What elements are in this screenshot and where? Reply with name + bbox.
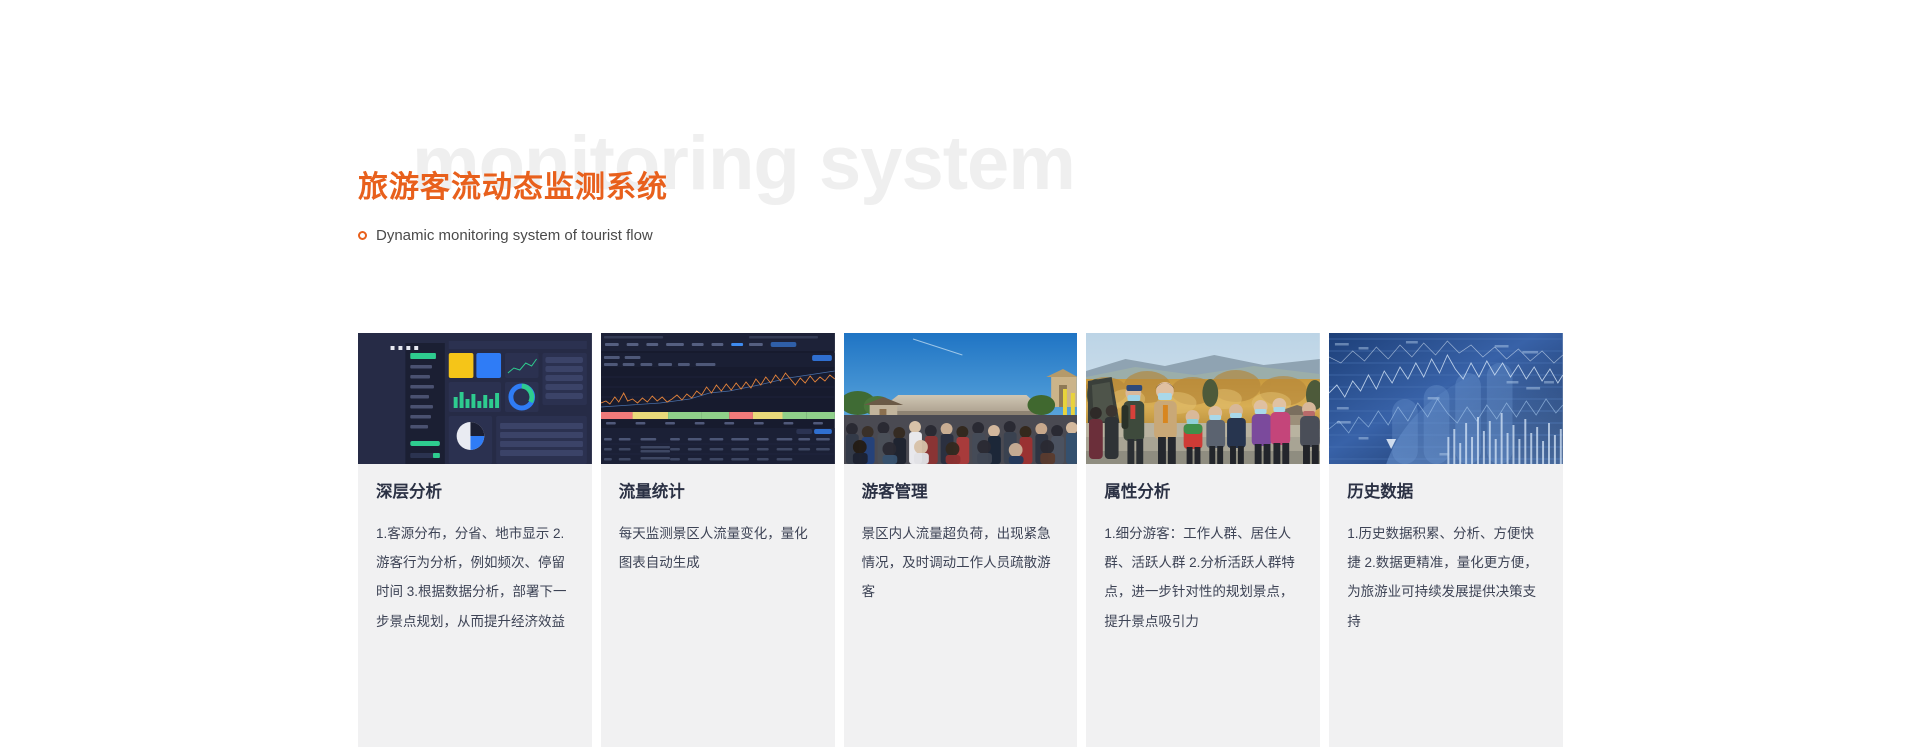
feature-card[interactable]: 属性分析 1.细分游客：工作人群、居住人群、活跃人群 2.分析活跃人群特点，进一… bbox=[1086, 333, 1320, 747]
feature-card[interactable]: 深层分析 1.客源分布，分省、地市显示 2.游客行为分析，例如频次、停留时间 3… bbox=[358, 333, 592, 747]
feature-card[interactable]: 流量统计 每天监测景区人流量变化，量化图表自动生成 bbox=[601, 333, 835, 747]
feature-card-body: 流量统计 每天监测景区人流量变化，量化图表自动生成 bbox=[601, 464, 835, 595]
dark-analytics-dashboard-image bbox=[358, 333, 592, 464]
page-subtitle: Dynamic monitoring system of tourist flo… bbox=[358, 228, 653, 243]
feature-card-description: 1.细分游客：工作人群、居住人群、活跃人群 2.分析活跃人群特点，进一步针对性的… bbox=[1104, 519, 1302, 637]
page-title: 旅游客流动态监测系统 bbox=[358, 173, 668, 203]
feature-card-title: 历史数据 bbox=[1347, 484, 1545, 501]
feature-card-list: 深层分析 1.客源分布，分省、地市显示 2.游客行为分析，例如频次、停留时间 3… bbox=[358, 333, 1563, 747]
dark-trading-chart-dashboard-image bbox=[601, 333, 835, 464]
feature-card-body: 深层分析 1.客源分布，分省、地市显示 2.游客行为分析，例如频次、停留时间 3… bbox=[358, 464, 592, 654]
crowd-at-scenic-site-photo bbox=[844, 333, 1078, 464]
feature-card-body: 历史数据 1.历史数据积累、分析、方便快捷 2.数据更精准，量化更方便，为旅游业… bbox=[1329, 464, 1563, 654]
feature-card-description: 景区内人流量超负荷，出现紧急情况，及时调动工作人员疏散游客 bbox=[862, 519, 1060, 607]
masked-tourists-autumn-photo bbox=[1086, 333, 1320, 464]
feature-card-title: 流量统计 bbox=[619, 484, 817, 501]
feature-card-title: 游客管理 bbox=[862, 484, 1060, 501]
page-header: monitoring system 旅游客流动态监测系统 Dynamic mon… bbox=[358, 128, 1558, 258]
feature-card[interactable]: 游客管理 景区内人流量超负荷，出现紧急情况，及时调动工作人员疏散游客 bbox=[844, 333, 1078, 747]
feature-card-description: 1.历史数据积累、分析、方便快捷 2.数据更精准，量化更方便，为旅游业可持续发展… bbox=[1347, 519, 1545, 637]
feature-card[interactable]: 历史数据 1.历史数据积累、分析、方便快捷 2.数据更精准，量化更方便，为旅游业… bbox=[1329, 333, 1563, 747]
feature-card-title: 属性分析 bbox=[1104, 484, 1302, 501]
feature-card-body: 游客管理 景区内人流量超负荷，出现紧急情况，及时调动工作人员疏散游客 bbox=[844, 464, 1078, 625]
feature-card-description: 每天监测景区人流量变化，量化图表自动生成 bbox=[619, 519, 817, 578]
feature-card-description: 1.客源分布，分省、地市显示 2.游客行为分析，例如频次、停留时间 3.根据数据… bbox=[376, 519, 574, 637]
page-root: monitoring system 旅游客流动态监测系统 Dynamic mon… bbox=[0, 0, 1920, 747]
page-subtitle-label: Dynamic monitoring system of tourist flo… bbox=[376, 228, 653, 243]
feature-card-title: 深层分析 bbox=[376, 484, 574, 501]
ring-bullet-icon bbox=[358, 231, 367, 240]
blue-financial-data-image bbox=[1329, 333, 1563, 464]
feature-card-body: 属性分析 1.细分游客：工作人群、居住人群、活跃人群 2.分析活跃人群特点，进一… bbox=[1086, 464, 1320, 654]
